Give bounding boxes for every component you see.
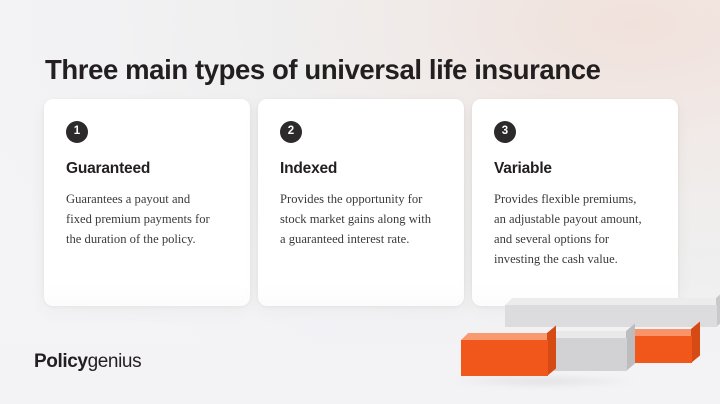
card-title: Guaranteed [66,160,230,178]
card-indexed[interactable]: 2 Indexed Provides the opportunity for s… [258,99,464,306]
logo-light-text: genius [88,351,142,372]
card-list: 1 Guaranteed Guarantees a payout and fix… [44,99,678,306]
block-top-face [461,333,555,340]
card-title: Variable [494,160,658,178]
card-body-text: Provides the opportunity for stock marke… [280,189,432,249]
block-top-face [626,329,699,336]
decorative-blocks-shadow [456,374,706,390]
card-number-badge: 2 [280,121,302,143]
block-top-face [545,331,634,338]
block-side-face [691,321,700,363]
block-side-face [547,325,556,376]
block-front-face [461,340,548,376]
card-number-badge: 1 [66,121,88,143]
block-front-face [545,338,627,371]
block-front-face [505,305,717,327]
page-title: Three main types of universal life insur… [45,54,601,86]
infographic-slide: Three main types of universal life insur… [0,0,720,404]
decorative-block-gray-top [505,305,717,327]
decorative-block-orange-right [626,336,692,363]
logo-bold-text: Policy [34,351,88,372]
decorative-block-gray-middle [545,338,627,371]
card-variable[interactable]: 3 Variable Provides flexible premiums, a… [472,99,678,306]
policygenius-logo[interactable]: Policygenius [34,351,141,373]
card-guaranteed[interactable]: 1 Guaranteed Guarantees a payout and fix… [44,99,250,306]
decorative-blocks-graphic [450,296,720,404]
card-body-text: Provides flexible premiums, an adjustabl… [494,189,646,269]
card-number-badge: 3 [494,121,516,143]
block-front-face [626,336,692,363]
card-body-text: Guarantees a payout and fixed premium pa… [66,189,218,249]
decorative-block-orange-left [461,340,548,376]
block-side-face [626,323,635,371]
block-top-face [505,298,720,305]
card-title: Indexed [280,160,444,178]
